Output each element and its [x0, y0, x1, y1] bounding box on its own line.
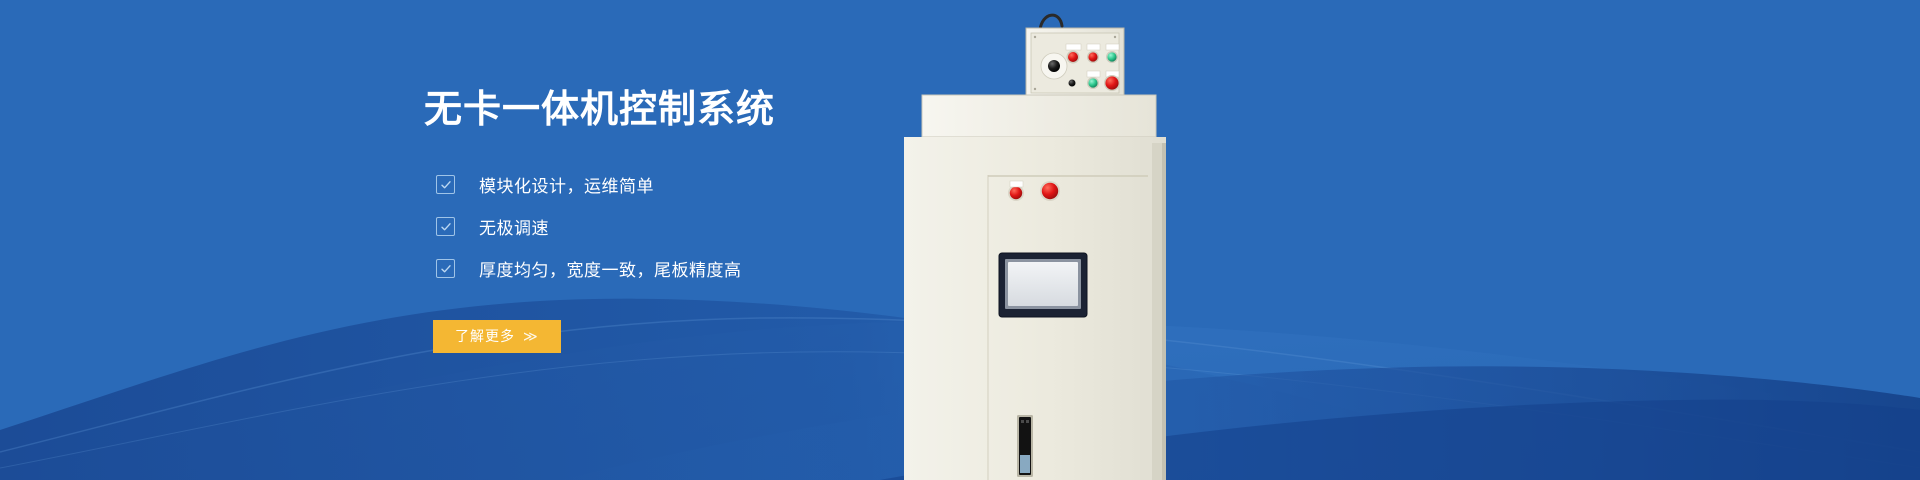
checkbox-check-icon — [436, 175, 455, 194]
rotary-selector-knob — [1048, 60, 1060, 72]
double-chevron-right-icon: ≫ — [523, 328, 539, 345]
emergency-stop-button — [1105, 76, 1118, 89]
list-item: 厚度均匀，宽度一致，尾板精度高 — [436, 256, 1064, 282]
learn-more-button[interactable]: 了解更多 ≫ — [433, 320, 561, 353]
feature-label: 厚度均匀，宽度一致，尾板精度高 — [479, 256, 742, 281]
page-title: 无卡一体机控制系统 — [424, 88, 1064, 134]
hero-banner: 无卡一体机控制系统 模块化设计，运维简单 无极调速 — [0, 0, 1920, 480]
indicator-light-3 — [1107, 52, 1116, 61]
indicator-light-4 — [1069, 80, 1076, 87]
feature-label: 模块化设计，运维简单 — [479, 172, 654, 197]
indicator-light-1 — [1068, 52, 1078, 62]
list-item: 无极调速 — [436, 214, 1064, 240]
feature-list: 模块化设计，运维简单 无极调速 厚度均匀，宽度一致，尾板精度高 — [436, 172, 1064, 282]
feature-label: 无极调速 — [479, 214, 549, 239]
hero-text-block: 无卡一体机控制系统 模块化设计，运维简单 无极调速 — [424, 88, 1064, 353]
learn-more-label: 了解更多 — [455, 326, 515, 346]
indicator-light-2 — [1088, 52, 1097, 61]
list-item: 模块化设计，运维简单 — [436, 172, 1064, 198]
checkbox-check-icon — [436, 259, 455, 278]
cabinet-vent-slot — [1017, 415, 1033, 477]
indicator-light-5 — [1088, 78, 1097, 87]
checkbox-check-icon — [436, 217, 455, 236]
